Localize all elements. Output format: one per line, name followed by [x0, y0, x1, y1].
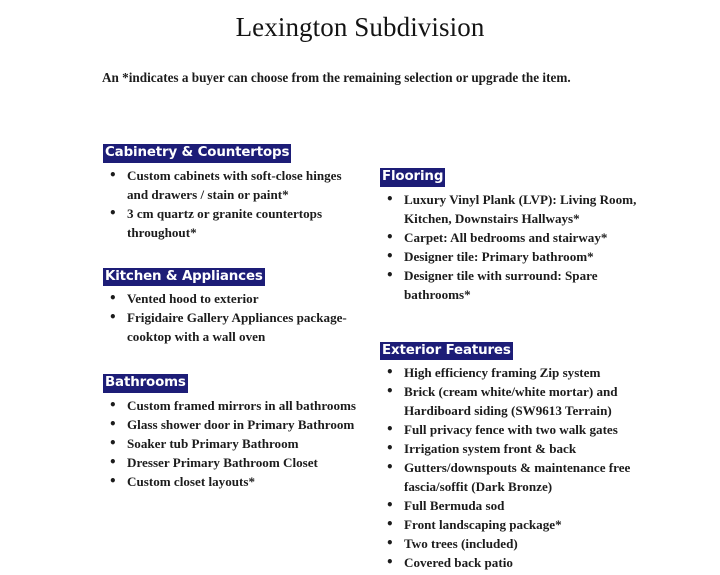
- section-flooring: Flooring Luxury Vinyl Plank (LVP): Livin…: [380, 167, 648, 304]
- list-item: 3 cm quartz or granite countertops throu…: [103, 204, 365, 242]
- list-item: Designer tile with surround: Spare bathr…: [380, 266, 648, 304]
- intro-note: An *indicates a buyer can choose from th…: [102, 69, 662, 86]
- list-item: Designer tile: Primary bathroom*: [380, 247, 648, 266]
- bullet-list-flooring: Luxury Vinyl Plank (LVP): Living Room, K…: [380, 190, 648, 304]
- list-item: Soaker tub Primary Bathroom: [103, 434, 365, 453]
- left-column: Cabinetry & Countertops Custom cabinets …: [103, 143, 365, 491]
- list-item: Custom cabinets with soft-close hinges a…: [103, 166, 365, 204]
- section-heading-exterior-features: Exterior Features: [380, 342, 513, 361]
- section-exterior-features: Exterior Features High efficiency framin…: [380, 341, 648, 573]
- bullet-list-bathrooms: Custom framed mirrors in all bathrooms G…: [103, 396, 365, 491]
- list-item: Custom framed mirrors in all bathrooms: [103, 396, 365, 415]
- bullet-list-kitchen-appliances: Vented hood to exterior Frigidaire Galle…: [103, 289, 365, 346]
- list-item: Front landscaping package*: [380, 515, 648, 534]
- section-cabinetry-countertops: Cabinetry & Countertops Custom cabinets …: [103, 143, 365, 242]
- list-item: Two trees (included): [380, 534, 648, 553]
- list-item: Dresser Primary Bathroom Closet: [103, 453, 365, 472]
- list-item: Full privacy fence with two walk gates: [380, 420, 648, 439]
- list-item: Brick (cream white/white mortar) and Har…: [380, 382, 648, 420]
- list-item: Irrigation system front & back: [380, 439, 648, 458]
- list-item: Full Bermuda sod: [380, 496, 648, 515]
- section-heading-flooring: Flooring: [380, 168, 445, 187]
- document-page: Lexington Subdivision An *indicates a bu…: [0, 0, 720, 575]
- page-title: Lexington Subdivision: [0, 12, 720, 43]
- section-bathrooms: Bathrooms Custom framed mirrors in all b…: [103, 373, 365, 491]
- list-item: Luxury Vinyl Plank (LVP): Living Room, K…: [380, 190, 648, 228]
- section-heading-cabinetry-countertops: Cabinetry & Countertops: [103, 144, 291, 163]
- bullet-list-exterior-features: High efficiency framing Zip system Brick…: [380, 363, 648, 572]
- section-heading-bathrooms: Bathrooms: [103, 374, 188, 393]
- right-column: Flooring Luxury Vinyl Plank (LVP): Livin…: [380, 167, 648, 572]
- list-item: Frigidaire Gallery Appliances package-co…: [103, 308, 365, 346]
- list-item: Glass shower door in Primary Bathroom: [103, 415, 365, 434]
- list-item: Custom closet layouts*: [103, 472, 365, 491]
- section-heading-kitchen-appliances: Kitchen & Appliances: [103, 268, 265, 287]
- list-item: Carpet: All bedrooms and stairway*: [380, 228, 648, 247]
- list-item: Covered back patio: [380, 553, 648, 572]
- bullet-list-cabinetry-countertops: Custom cabinets with soft-close hinges a…: [103, 166, 365, 242]
- list-item: Gutters/downspouts & maintenance free fa…: [380, 458, 648, 496]
- list-item: High efficiency framing Zip system: [380, 363, 648, 382]
- list-item: Vented hood to exterior: [103, 289, 365, 308]
- section-kitchen-appliances: Kitchen & Appliances Vented hood to exte…: [103, 267, 365, 347]
